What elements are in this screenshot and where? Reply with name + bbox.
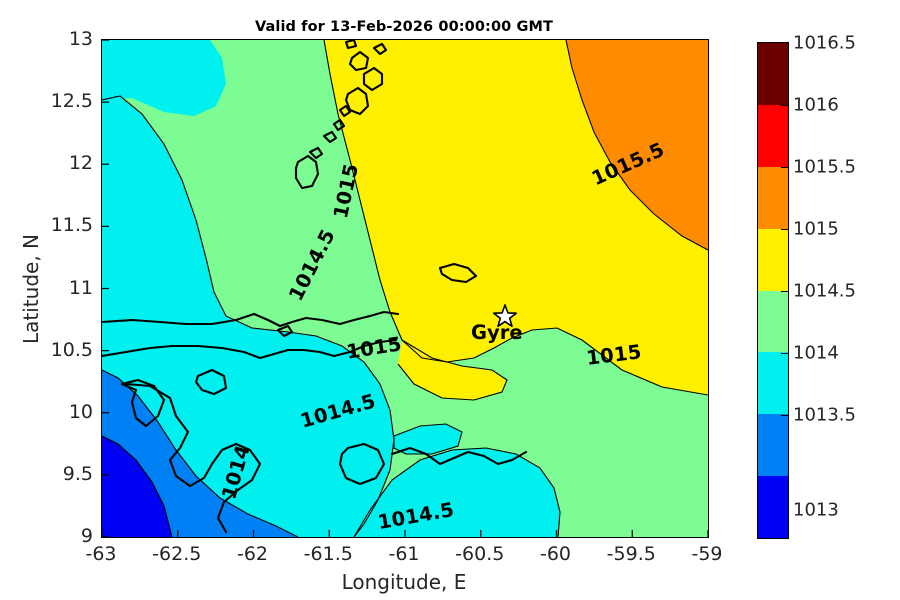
colorbar-label-1014_5: 1014.5 <box>793 281 856 302</box>
xtick--59: -59 <box>691 543 722 565</box>
ytick-12: 12 <box>69 152 93 174</box>
xtick--62_5: -62.5 <box>152 543 201 565</box>
xtick--61_5: -61.5 <box>304 543 353 565</box>
colorbar-tickmark-1016 <box>781 105 788 106</box>
figure-canvas: Valid for 13-Feb-2026 00:00:00 GMT <box>0 0 900 600</box>
colorbar-label-1014: 1014 <box>793 343 839 364</box>
colorbar-ticklabels: 1016.5 1016 1015.5 1015 1014.5 1014 1013… <box>793 42 863 539</box>
colorbar-label-1015: 1015 <box>793 219 839 240</box>
colorbar-label-1013: 1013 <box>793 500 839 521</box>
xtick--61: -61 <box>388 543 419 565</box>
ytick-9_5: 9.5 <box>63 463 93 485</box>
colorbar-band-1014_5 <box>758 291 788 353</box>
xtick--63: -63 <box>85 543 116 565</box>
contour-fill-layer <box>102 40 708 537</box>
contour-map-axes[interactable]: 1014.5 1015 1015.5 1015 1015 1014.5 1014… <box>101 39 709 538</box>
colorbar-band-1015_5 <box>758 167 788 229</box>
y-axis-label: Latitude, N <box>19 159 43 419</box>
colorbar-tickmark-1015 <box>781 229 788 230</box>
ytick-12_5: 12.5 <box>51 90 93 112</box>
ytick-13: 13 <box>69 28 93 50</box>
ytick-10: 10 <box>69 401 93 423</box>
colorbar-tickmark-1013_5 <box>781 415 788 416</box>
y-axis-ticklabels: 13 12.5 12 11.5 11 10.5 10 9.5 9 <box>0 39 93 536</box>
colorbar-tickmark-1014_5 <box>781 291 788 292</box>
colorbar-band-1016_5 <box>758 43 788 105</box>
colorbar-label-1015_5: 1015.5 <box>793 157 856 178</box>
ytick-10_5: 10.5 <box>51 339 93 361</box>
gyre-label: Gyre <box>471 321 523 344</box>
ytick-11_5: 11.5 <box>51 214 93 236</box>
xtick--59_5: -59.5 <box>607 543 656 565</box>
xtick--60_5: -60.5 <box>455 543 504 565</box>
colorbar-label-1016: 1016 <box>793 95 839 116</box>
colorbar-band-1015 <box>758 229 788 291</box>
colorbar-band-1016 <box>758 105 788 167</box>
colorbar-label-1016_5: 1016.5 <box>793 33 856 54</box>
colorbar-band-1014 <box>758 352 788 414</box>
x-axis-ticklabels: -63 -62.5 -62 -61.5 -61 -60.5 -60 -59.5 … <box>101 543 707 569</box>
colorbar-tickmark-1015_5 <box>781 167 788 168</box>
x-axis-label: Longitude, E <box>101 570 707 594</box>
colorbar-tickmark-1014 <box>781 353 788 354</box>
contour-map-svg <box>102 40 708 537</box>
colorbar-label-1013_5: 1013.5 <box>793 405 856 426</box>
colorbar-band-1013 <box>758 476 788 538</box>
colorbar-band-1013_5 <box>758 414 788 476</box>
plot-title: Valid for 13-Feb-2026 00:00:00 GMT <box>101 19 707 35</box>
xtick--60: -60 <box>540 543 571 565</box>
xtick--62: -62 <box>237 543 268 565</box>
ytick-11: 11 <box>69 277 93 299</box>
